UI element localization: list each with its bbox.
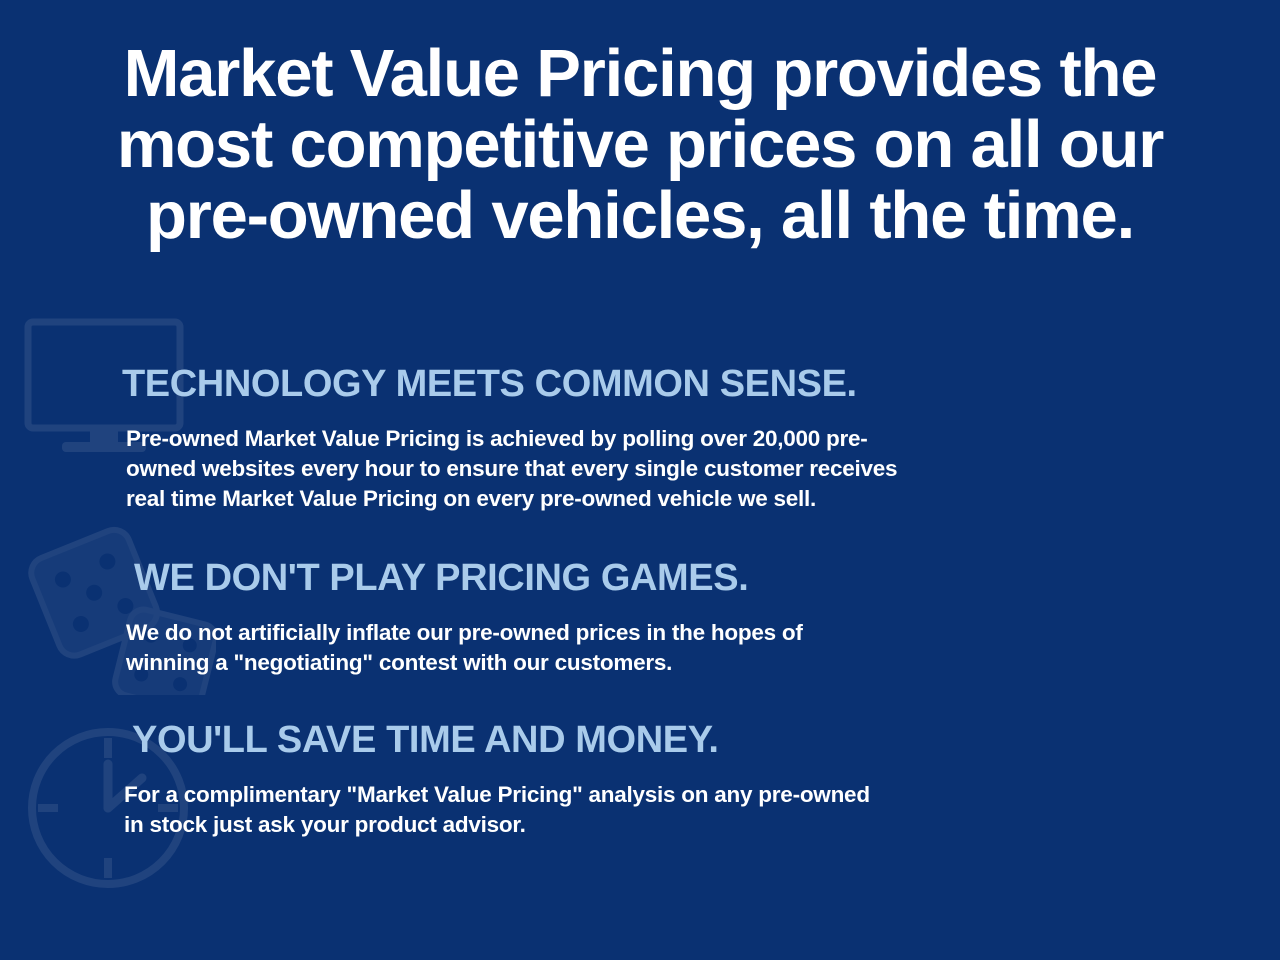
headline-line-2: most competitive prices on all our <box>0 109 1280 180</box>
body-line: For a complimentary "Market Value Pricin… <box>124 780 1109 810</box>
section-heading-time-and-money: YOU'LL SAVE TIME AND MONEY. <box>132 718 1132 762</box>
section-body-pricing-games: We do not artificially inflate our pre-o… <box>126 618 1111 678</box>
body-line: real time Market Value Pricing on every … <box>126 484 1111 514</box>
section-heading-pricing-games: WE DON'T PLAY PRICING GAMES. <box>134 556 1132 600</box>
section-body-technology: Pre-owned Market Value Pricing is achiev… <box>126 424 1111 514</box>
section-pricing-games: WE DON'T PLAY PRICING GAMES. We do not a… <box>122 556 1132 678</box>
headline-line-1: Market Value Pricing provides the <box>0 38 1280 109</box>
body-line: We do not artificially inflate our pre-o… <box>126 618 1111 648</box>
body-line: in stock just ask your product advisor. <box>124 810 1109 840</box>
content-sections: TECHNOLOGY MEETS COMMON SENSE. Pre-owned… <box>122 362 1132 840</box>
headline-line-3: pre-owned vehicles, all the time. <box>0 180 1280 251</box>
section-time-and-money: YOU'LL SAVE TIME AND MONEY. For a compli… <box>122 718 1132 840</box>
section-heading-technology: TECHNOLOGY MEETS COMMON SENSE. <box>122 362 1132 406</box>
body-line: winning a "negotiating" contest with our… <box>126 648 1111 678</box>
section-body-time-and-money: For a complimentary "Market Value Pricin… <box>124 780 1109 840</box>
page-headline: Market Value Pricing provides the most c… <box>0 38 1280 251</box>
body-line: owned websites every hour to ensure that… <box>126 454 1111 484</box>
body-line: Pre-owned Market Value Pricing is achiev… <box>126 424 1111 454</box>
section-technology: TECHNOLOGY MEETS COMMON SENSE. Pre-owned… <box>122 362 1132 514</box>
